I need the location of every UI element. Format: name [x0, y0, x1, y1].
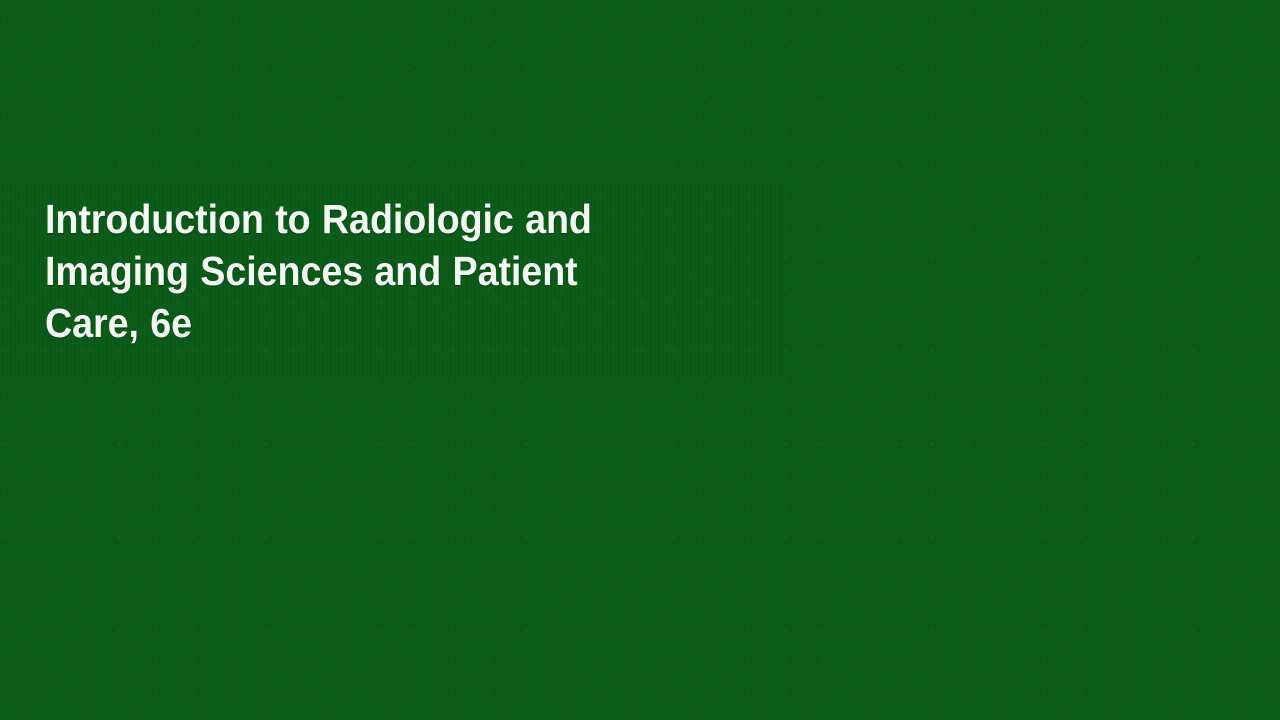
- cover-title-block: Introduction to Radiologic and Imaging S…: [45, 193, 755, 349]
- book-title: Introduction to Radiologic and Imaging S…: [45, 193, 698, 349]
- book-cover-card: Introduction to Radiologic and Imaging S…: [0, 0, 1280, 720]
